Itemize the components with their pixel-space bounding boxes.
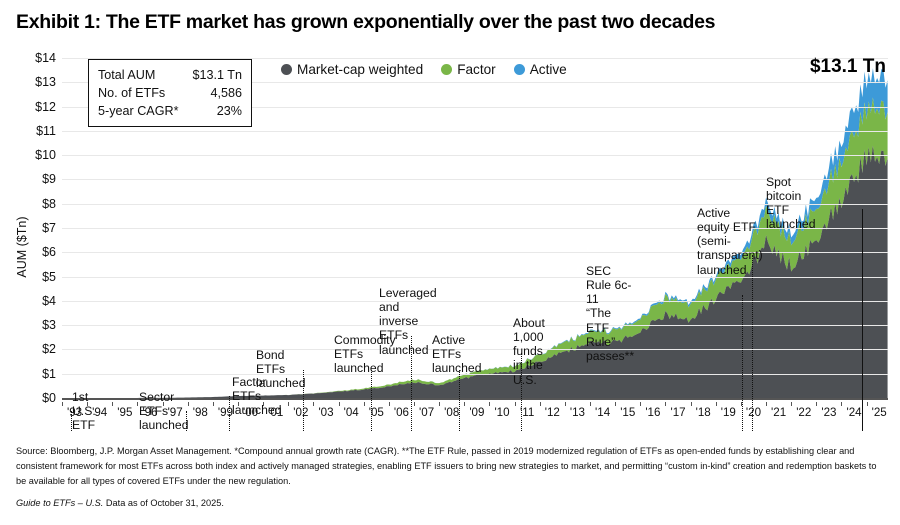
y-tick-label: $14 [4, 51, 56, 65]
x-tick-label: '19 [721, 406, 736, 419]
stats-row: 5-year CAGR*23% [98, 102, 242, 120]
stats-value: 23% [178, 102, 241, 120]
annotation-label: 1st U.S. ETF [72, 390, 96, 432]
guide-date: Data as of October 31, 2025. [106, 498, 224, 508]
x-tick-label: '99 [218, 406, 233, 419]
x-tick-mark [313, 402, 314, 406]
x-tick-mark [439, 402, 440, 406]
stats-value: 4,586 [178, 84, 241, 102]
x-tick-label: '03 [318, 406, 333, 419]
y-tick-label: $6 [4, 245, 56, 259]
x-tick-mark [841, 402, 842, 406]
y-tick-label: $5 [4, 270, 56, 284]
legend-swatch-icon [281, 64, 292, 75]
annotation-label: About 1,000 funds in the U.S. [513, 316, 545, 387]
y-tick-label: $12 [4, 100, 56, 114]
stats-label: Total AUM [98, 66, 178, 84]
annotation-leader-line [186, 411, 187, 431]
x-tick-mark [615, 402, 616, 406]
x-tick-mark [867, 402, 868, 406]
stats-row: Total AUM$13.1 Tn [98, 66, 242, 84]
x-tick-mark [665, 402, 666, 406]
x-tick-label: '02 [293, 406, 308, 419]
page-title: Exhibit 1: The ETF market has grown expo… [16, 11, 715, 34]
x-tick-label: '04 [344, 406, 359, 419]
x-tick-label: '18 [696, 406, 711, 419]
x-tick-label: '22 [796, 406, 811, 419]
x-tick-mark [515, 402, 516, 406]
x-tick-mark [288, 402, 289, 406]
annotation-leader-line [742, 295, 743, 431]
legend-label: Active [530, 62, 567, 77]
y-tick-label: $10 [4, 148, 56, 162]
legend-swatch-icon [514, 64, 525, 75]
x-tick-label: '14 [595, 406, 610, 419]
legend-label: Factor [457, 62, 496, 77]
annotation-leader-line [303, 370, 304, 431]
x-tick-label: '10 [494, 406, 509, 419]
annotation-leader-line [411, 336, 412, 431]
x-tick-mark [716, 402, 717, 406]
annotation-label: Spot bitcoin ETF launched [766, 175, 815, 232]
legend-label: Market-cap weighted [297, 62, 423, 77]
stats-row: No. of ETFs4,586 [98, 84, 242, 102]
end-value-label: $13.1 Tn [810, 56, 886, 78]
gridline [62, 277, 888, 278]
x-tick-mark [364, 402, 365, 406]
x-tick-mark [640, 402, 641, 406]
y-tick-label: $3 [4, 318, 56, 332]
legend-item: Factor [441, 62, 496, 77]
x-tick-label: '24 [846, 406, 861, 419]
annotation-leader-line [862, 209, 863, 431]
y-tick-label: $8 [4, 197, 56, 211]
x-tick-label: '25 [872, 406, 887, 419]
x-tick-label: '95 [117, 406, 132, 419]
x-tick-label: '17 [670, 406, 685, 419]
stats-label: No. of ETFs [98, 84, 178, 102]
legend-swatch-icon [441, 64, 452, 75]
x-tick-label: '20 [746, 406, 761, 419]
annotation-label: Leveraged and inverse ETFs launched [379, 286, 437, 357]
gridline [62, 252, 888, 253]
annotation-leader-line [371, 370, 372, 431]
x-tick-label: '09 [469, 406, 484, 419]
y-tick-label: $11 [4, 124, 56, 138]
x-tick-label: '11 [520, 406, 534, 419]
x-tick-mark [339, 402, 340, 406]
x-tick-mark [540, 402, 541, 406]
gridline [62, 228, 888, 229]
x-tick-mark [213, 402, 214, 406]
x-tick-label: '06 [394, 406, 409, 419]
annotation-label: Bond ETFs launched [256, 348, 305, 390]
annotation-leader-line [459, 370, 460, 431]
guide-note: Guide to ETFs – U.S. Data as of October … [16, 498, 886, 508]
annotation-label: Active ETFs launched [432, 333, 481, 375]
y-tick-label: $1 [4, 367, 56, 381]
annotation-leader-line [521, 353, 522, 431]
x-tick-mark [62, 402, 63, 406]
y-tick-label: $13 [4, 75, 56, 89]
summary-stats-table: Total AUM$13.1 TnNo. of ETFs4,5865-year … [98, 66, 242, 120]
summary-stats-box: Total AUM$13.1 TnNo. of ETFs4,5865-year … [88, 59, 252, 127]
x-tick-mark [414, 402, 415, 406]
etf-aum-stacked-area-chart: AUM ($Tn) $0$1$2$3$4$5$6$7$8$9$10$11$12$… [0, 44, 900, 432]
gridline [62, 204, 888, 205]
y-tick-label: $4 [4, 294, 56, 308]
guide-title: Guide to ETFs – U.S. [16, 498, 103, 508]
footer: Source: Bloomberg, J.P. Morgan Asset Man… [16, 444, 886, 508]
y-tick-label: $0 [4, 391, 56, 405]
y-tick-label: $7 [4, 221, 56, 235]
y-tick-label: $2 [4, 342, 56, 356]
annotation-leader-line [229, 396, 230, 431]
annotation-label: Sector ETFs launched [139, 390, 188, 432]
annotation-leader-line [71, 411, 72, 431]
x-tick-mark [766, 402, 767, 406]
chart-legend: Market-cap weightedFactorActive [281, 62, 577, 77]
x-tick-label: '13 [570, 406, 585, 419]
x-tick-label: '08 [444, 406, 459, 419]
annotation-label: SEC Rule 6c-11 “The ETF Rule” passes** [586, 264, 634, 363]
x-tick-mark [464, 402, 465, 406]
x-tick-label: '23 [821, 406, 836, 419]
gridline [62, 325, 888, 326]
x-tick-mark [791, 402, 792, 406]
x-tick-mark [590, 402, 591, 406]
x-tick-mark [565, 402, 566, 406]
x-tick-label: '16 [645, 406, 660, 419]
gridline [62, 179, 888, 180]
x-tick-mark [816, 402, 817, 406]
legend-item: Active [514, 62, 567, 77]
gridline [62, 301, 888, 302]
source-note: Source: Bloomberg, J.P. Morgan Asset Man… [16, 444, 886, 489]
x-tick-mark [691, 402, 692, 406]
x-tick-label: '98 [193, 406, 208, 419]
stats-value: $13.1 Tn [178, 66, 241, 84]
legend-item: Market-cap weighted [281, 62, 423, 77]
x-tick-label: '07 [419, 406, 434, 419]
x-tick-mark [489, 402, 490, 406]
y-axis-ticks: $0$1$2$3$4$5$6$7$8$9$10$11$12$13$14 [0, 58, 56, 398]
y-tick-label: $9 [4, 172, 56, 186]
x-tick-label: '12 [545, 406, 560, 419]
x-tick-mark [112, 402, 113, 406]
x-tick-label: '21 [771, 406, 786, 419]
gridline [62, 131, 888, 132]
annotation-leader-line [752, 255, 753, 431]
x-tick-mark [389, 402, 390, 406]
stats-label: 5-year CAGR* [98, 102, 178, 120]
x-tick-label: '15 [620, 406, 635, 419]
gridline [62, 155, 888, 156]
